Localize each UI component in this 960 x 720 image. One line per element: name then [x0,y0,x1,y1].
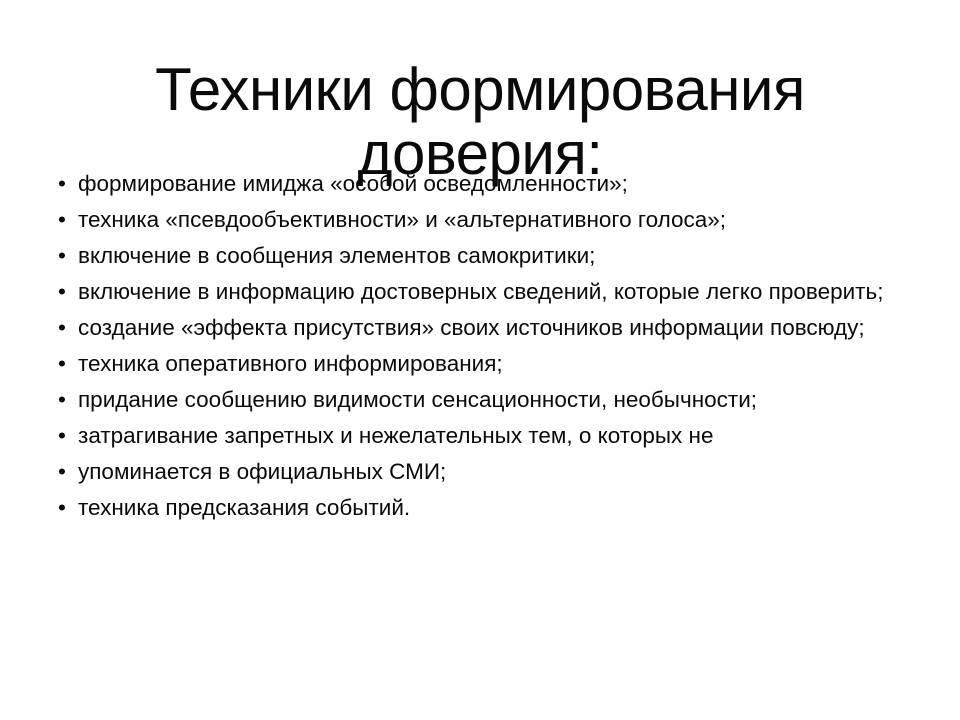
list-item-label: техника «псевдообъективности» и «альтерн… [78,204,914,236]
page-title: Техники формирования доверия: [60,58,900,186]
techniques-bullet-list: • формирование имиджа «особой осведомлен… [52,168,914,528]
list-item-label: упоминается в официальных СМИ; [78,456,914,488]
list-item: • включение в сообщения элементов самокр… [52,240,914,272]
bullet-point-icon: • [58,168,72,200]
list-item: • техника предсказания событий. [52,492,914,524]
list-item-label: техника оперативного информирования; [78,348,914,380]
list-item: • техника «псевдообъективности» и «альте… [52,204,914,236]
list-item-label: затрагивание запретных и нежелательных т… [78,420,914,452]
list-item: • создание «эффекта присутствия» своих и… [52,312,908,344]
list-item: • формирование имиджа «особой осведомлен… [52,168,914,200]
list-item-label: техника предсказания событий. [78,492,914,524]
presentation-slide: Техники формирования доверия: • формиров… [0,0,960,720]
bullet-point-icon: • [58,276,72,308]
list-item: • техника оперативного информирования; [52,348,914,380]
list-item: • включение в информацию достоверных све… [52,276,908,308]
list-item-label: включение в информацию достоверных сведе… [78,276,908,308]
bullet-point-icon: • [58,492,72,524]
list-item: • придание сообщению видимости сенсацион… [52,384,908,416]
list-item: • упоминается в официальных СМИ; [52,456,914,488]
bullet-point-icon: • [58,312,72,344]
bullet-point-icon: • [58,348,72,380]
list-item-label: создание «эффекта присутствия» своих ист… [78,312,908,344]
bullet-point-icon: • [58,384,72,416]
bullet-point-icon: • [58,420,72,452]
list-item-label: придание сообщению видимости сенсационно… [78,384,908,416]
list-item-label: включение в сообщения элементов самокрит… [78,240,914,272]
list-item: • затрагивание запретных и нежелательных… [52,420,914,452]
bullet-point-icon: • [58,204,72,236]
list-item-label: формирование имиджа «особой осведомленно… [78,168,914,200]
bullet-point-icon: • [58,240,72,272]
bullet-point-icon: • [58,456,72,488]
